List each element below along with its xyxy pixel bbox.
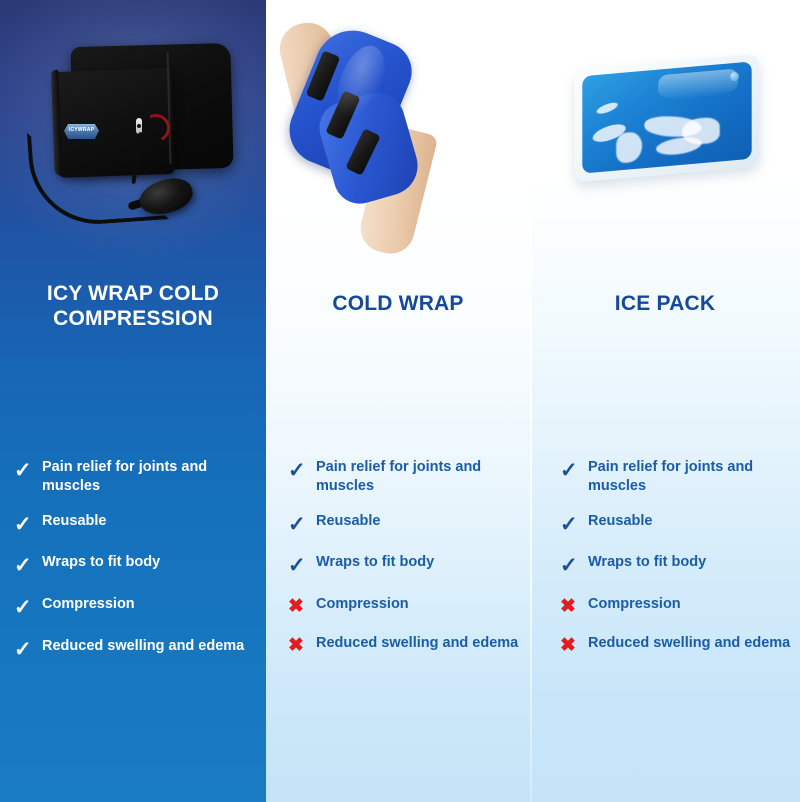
column-title-icy-wrap-cold-compression: ICY WRAP COLD COMPRESSION xyxy=(8,282,258,332)
feature-row: ✓ Pain relief for joints and muscles xyxy=(560,458,796,496)
gel-frost-blob xyxy=(656,135,703,157)
check-icon: ✓ xyxy=(14,553,42,579)
cross-icon: ✖ xyxy=(288,595,316,618)
feature-row: ✓ Reduced swelling and edema xyxy=(14,637,256,663)
check-icon: ✓ xyxy=(288,553,316,579)
feature-row: ✓ Compression xyxy=(14,595,256,621)
feature-row: ✖ Compression xyxy=(288,595,526,618)
feature-list-icy-wrap-cold-compression: ✓ Pain relief for joints and muscles ✓ R… xyxy=(14,458,256,662)
check-icon: ✓ xyxy=(14,595,42,621)
feature-label: Pain relief for joints and muscles xyxy=(42,458,256,496)
feature-label: Compression xyxy=(316,595,526,614)
product-image-ice-pack xyxy=(530,0,800,268)
feature-row: ✖ Reduced swelling and edema xyxy=(560,634,796,657)
feature-label: Wraps to fit body xyxy=(42,553,256,572)
cross-icon: ✖ xyxy=(560,634,588,657)
feature-row: ✓ Wraps to fit body xyxy=(288,553,526,579)
gel-frost-blob xyxy=(616,131,642,163)
feature-row: ✓ Wraps to fit body xyxy=(14,553,256,579)
check-icon: ✓ xyxy=(14,512,42,538)
product-image-icy-wrap-cold-compression: ICYWRAP xyxy=(0,0,266,268)
feature-label: Compression xyxy=(588,595,796,614)
feature-list-cold-wrap: ✓ Pain relief for joints and muscles ✓ R… xyxy=(288,458,526,657)
check-icon: ✓ xyxy=(288,512,316,538)
feature-label: Wraps to fit body xyxy=(588,553,796,572)
check-icon: ✓ xyxy=(14,458,42,484)
feature-label: Reusable xyxy=(42,512,256,531)
pump-tube xyxy=(27,123,169,228)
check-icon: ✓ xyxy=(560,458,588,484)
feature-row: ✓ Pain relief for joints and muscles xyxy=(288,458,526,496)
check-icon: ✓ xyxy=(14,637,42,663)
feature-label: Reusable xyxy=(588,512,796,531)
product-image-cold-wrap xyxy=(266,0,530,268)
product-comparison-infographic: ICYWRAP xyxy=(0,0,800,802)
feature-label: Reduced swelling and edema xyxy=(316,634,526,653)
feature-list-ice-pack: ✓ Pain relief for joints and muscles ✓ R… xyxy=(560,458,796,657)
column-title-cold-wrap: COLD WRAP xyxy=(274,292,522,317)
feature-row: ✓ Reusable xyxy=(560,512,796,538)
feature-row: ✓ Reusable xyxy=(288,512,526,538)
check-icon: ✓ xyxy=(560,553,588,579)
feature-label: Pain relief for joints and muscles xyxy=(316,458,526,496)
feature-label: Reduced swelling and edema xyxy=(588,634,796,653)
feature-row: ✓ Reusable xyxy=(14,512,256,538)
feature-label: Reusable xyxy=(316,512,526,531)
feature-label: Compression xyxy=(42,595,256,614)
feature-row: ✓ Pain relief for joints and muscles xyxy=(14,458,256,496)
feature-row: ✓ Wraps to fit body xyxy=(560,553,796,579)
check-icon: ✓ xyxy=(288,458,316,484)
feature-row: ✖ Reduced swelling and edema xyxy=(288,634,526,657)
feature-label: Pain relief for joints and muscles xyxy=(588,458,796,496)
gel-frost-blob xyxy=(596,100,619,115)
feature-row: ✖ Compression xyxy=(560,595,796,618)
feature-label: Reduced swelling and edema xyxy=(42,637,256,656)
check-icon: ✓ xyxy=(560,512,588,538)
cross-icon: ✖ xyxy=(288,634,316,657)
cross-icon: ✖ xyxy=(560,595,588,618)
column-title-ice-pack: ICE PACK xyxy=(538,292,792,317)
feature-label: Wraps to fit body xyxy=(316,553,526,572)
